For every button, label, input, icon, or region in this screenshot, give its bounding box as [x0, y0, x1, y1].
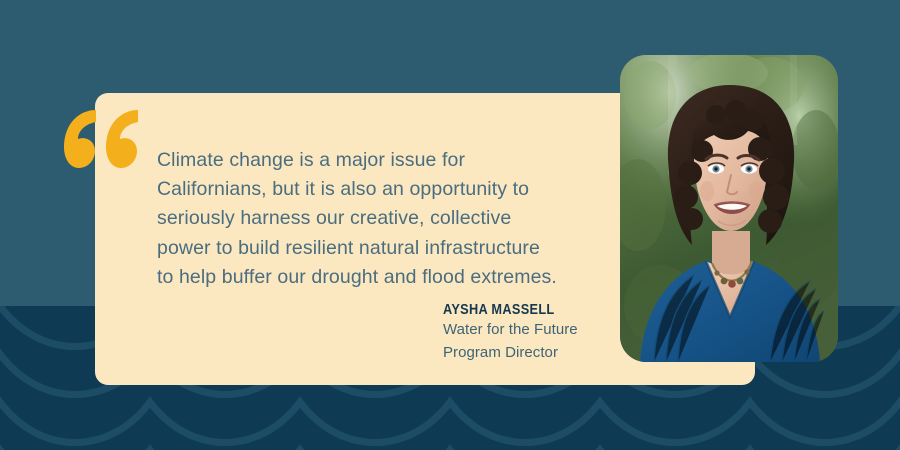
attribution: AYSHA MASSELL Water for the Future Progr…: [443, 302, 633, 364]
attribution-title: Program Director: [443, 342, 633, 365]
quote-graphic: Climate change is a major issue for Cali…: [0, 0, 900, 450]
attribution-name: AYSHA MASSELL: [443, 302, 610, 319]
quote-text: Climate change is a major issue for Cali…: [157, 146, 597, 292]
portrait-photo: [620, 55, 838, 362]
attribution-org: Water for the Future: [443, 319, 633, 342]
double-quotation-mark-icon: [62, 108, 138, 170]
